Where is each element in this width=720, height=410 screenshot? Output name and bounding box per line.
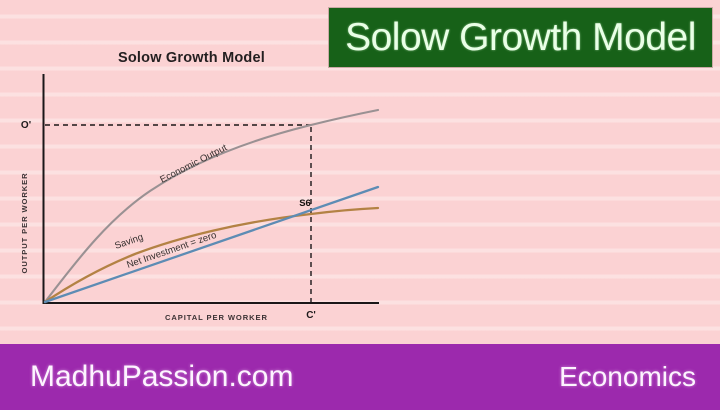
- curve-saving: [45, 208, 378, 302]
- site-brand[interactable]: MadhuPassion.com: [30, 362, 293, 392]
- x-axis-label: CAPITAL PER WORKER: [165, 313, 268, 322]
- curve-label-saving: Saving: [113, 232, 144, 252]
- title-banner-text: Solow Growth Model: [345, 18, 696, 57]
- curve-net-investment: [45, 187, 378, 302]
- curve-label-economic-output: Economic Output: [158, 142, 229, 185]
- title-banner: Solow Growth Model: [328, 7, 713, 68]
- steady-state-point-label: S6: [299, 198, 311, 209]
- screenshot-canvas: Solow Growth Model Solow Growth Model CA…: [0, 0, 720, 410]
- capital-marker-label: C': [306, 310, 316, 321]
- solow-growth-chart: CAPITAL PER WORKER OUTPUT PER WORKER O' …: [0, 68, 400, 336]
- category-label: Economics: [559, 363, 696, 391]
- footer-bar: MadhuPassion.com Economics: [0, 344, 720, 410]
- chart-title: Solow Growth Model: [118, 50, 265, 66]
- output-marker-label: O': [21, 120, 31, 131]
- y-axis-label: OUTPUT PER WORKER: [20, 173, 29, 274]
- plot-area: [44, 76, 378, 303]
